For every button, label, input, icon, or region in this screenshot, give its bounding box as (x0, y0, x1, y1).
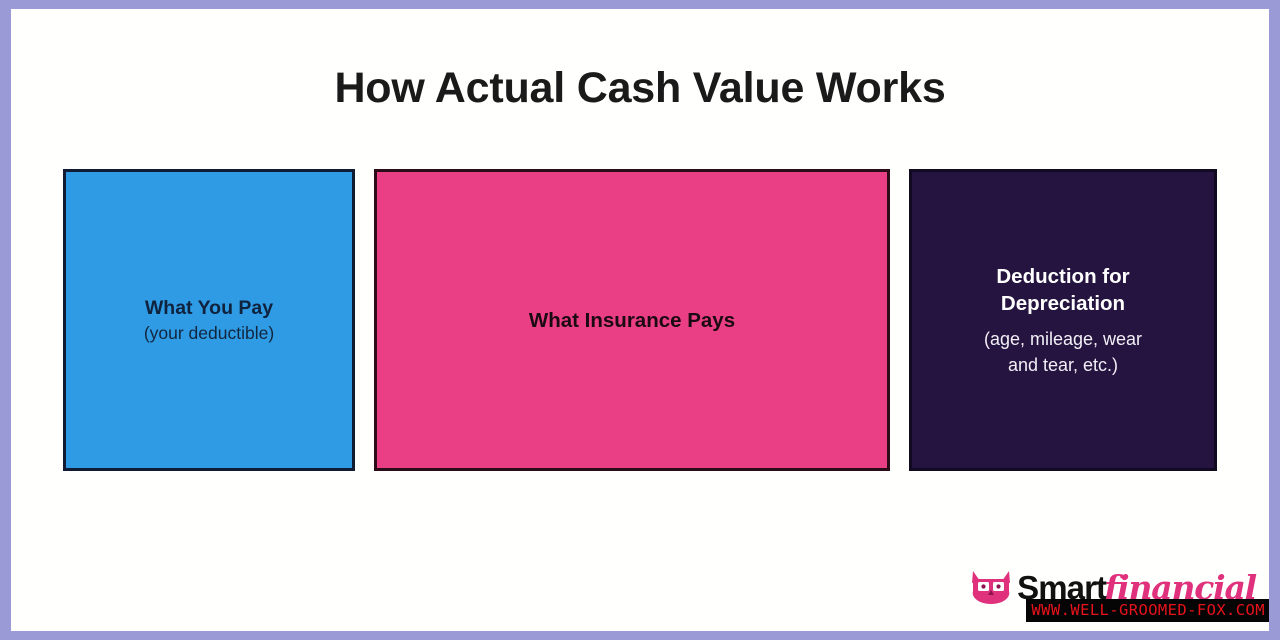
segment-heading: What You Pay (145, 296, 273, 320)
acv-segments-row: What You Pay (your deductible) What Insu… (63, 169, 1217, 471)
page-title: How Actual Cash Value Works (11, 63, 1269, 113)
segment-what-insurance-pays: What Insurance Pays (374, 169, 890, 471)
segment-heading: What Insurance Pays (529, 308, 735, 333)
segment-what-you-pay: What You Pay (your deductible) (63, 169, 355, 471)
segment-subtext: (your deductible) (144, 322, 274, 344)
segment-heading: Deduction for Depreciation (996, 263, 1129, 317)
infographic-canvas: How Actual Cash Value Works What You Pay… (11, 9, 1269, 631)
watermark-url: WWW.WELL-GROOMED-FOX.COM (1026, 599, 1269, 622)
segment-deduction-for-depreciation: Deduction for Depreciation (age, mileage… (909, 169, 1217, 471)
image-frame: How Actual Cash Value Works What You Pay… (0, 0, 1280, 640)
segment-subtext: (age, mileage, wear and tear, etc.) (984, 326, 1142, 378)
owl-mascot-icon (970, 569, 1012, 605)
